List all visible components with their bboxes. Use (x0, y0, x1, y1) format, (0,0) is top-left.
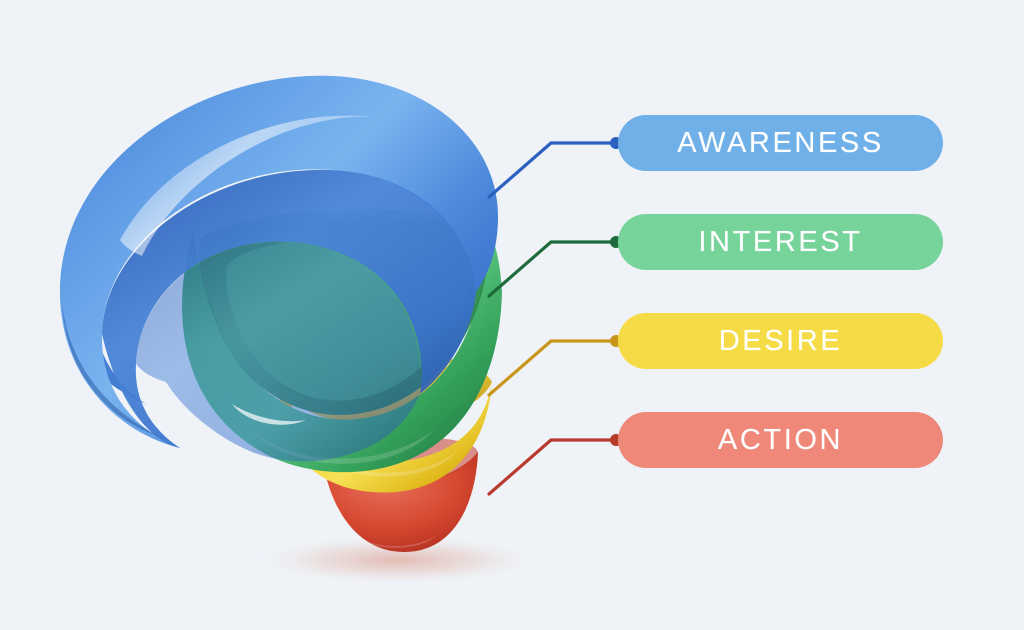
stage-label-interest: INTEREST (698, 228, 862, 257)
stage-label-action: ACTION (718, 426, 843, 455)
stage-pill-awareness[interactable]: AWARENESS (618, 115, 943, 171)
stage-label-awareness: AWARENESS (677, 129, 884, 158)
infographic-canvas: AWARENESS INTEREST DESIRE ACTION (0, 0, 1024, 630)
connector-desire (489, 341, 616, 395)
stage-label-desire: DESIRE (719, 327, 843, 356)
connector-awareness (489, 143, 616, 197)
stage-pill-desire[interactable]: DESIRE (618, 313, 943, 369)
stage-pill-action[interactable]: ACTION (618, 412, 943, 468)
connector-interest (489, 242, 616, 296)
connector-action (489, 440, 616, 494)
stage-pill-interest[interactable]: INTEREST (618, 214, 943, 270)
